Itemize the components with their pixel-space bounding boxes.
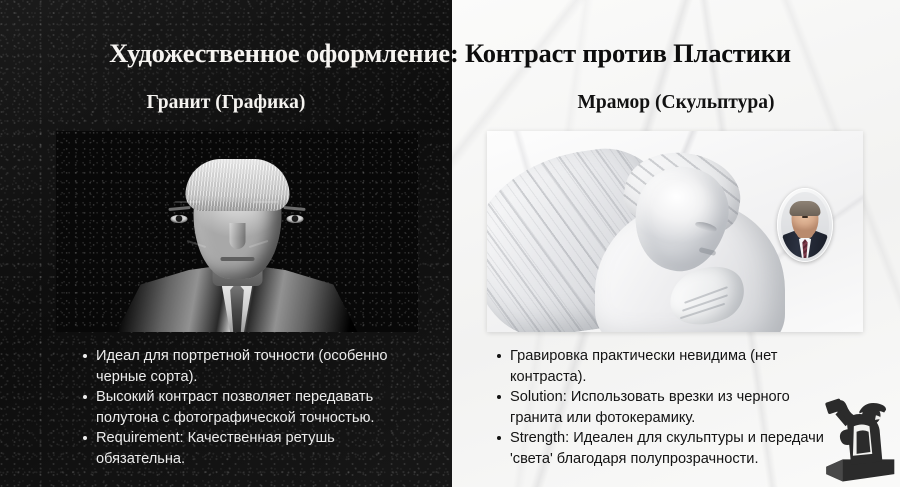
- left-column-heading: Гранит (Графика): [0, 92, 452, 114]
- right-bullet-list: Гравировка практически невидима (нет кон…: [497, 346, 842, 469]
- portrait-wrinkle: [175, 201, 201, 203]
- marble-angel-relief: [487, 131, 863, 332]
- oval-photo-inner: [781, 192, 829, 258]
- oval-photoceramic-portrait: [777, 188, 833, 262]
- right-column-heading: Мрамор (Скульптура): [452, 92, 900, 114]
- portrait-wrinkle: [253, 201, 279, 203]
- list-item: Высокий контраст позволяет передавать по…: [83, 387, 423, 428]
- portrait-brow-right: [283, 206, 305, 211]
- oval-photo-eye-right: [803, 216, 808, 218]
- oval-photo-hair: [790, 201, 821, 216]
- list-item: Гравировка практически невидима (нет кон…: [497, 346, 842, 387]
- slide-root: Художественное оформление: Контраст прот…: [0, 0, 900, 487]
- list-item: Идеал для портретной точности (особенно …: [83, 346, 423, 387]
- list-item: Requirement: Качественная ретушь обязате…: [83, 428, 423, 469]
- granite-engraved-portrait: [56, 131, 418, 332]
- portrait-eye-left: [171, 215, 188, 223]
- portrait-hair: [185, 159, 289, 211]
- portrait-brow-left: [168, 206, 190, 211]
- portrait-nose: [229, 223, 245, 249]
- portrait-eye-right: [287, 215, 304, 223]
- list-item: Solution: Использовать врезки из черного…: [497, 387, 842, 428]
- left-bullet-list: Идеал для портретной точности (особенно …: [83, 346, 423, 469]
- list-item: Strength: Идеален для скульптуры и перед…: [497, 428, 842, 469]
- engraved-portrait-figure: [135, 131, 340, 332]
- portrait-mouth: [220, 257, 254, 261]
- stonemason-engraver-logo: [806, 395, 898, 487]
